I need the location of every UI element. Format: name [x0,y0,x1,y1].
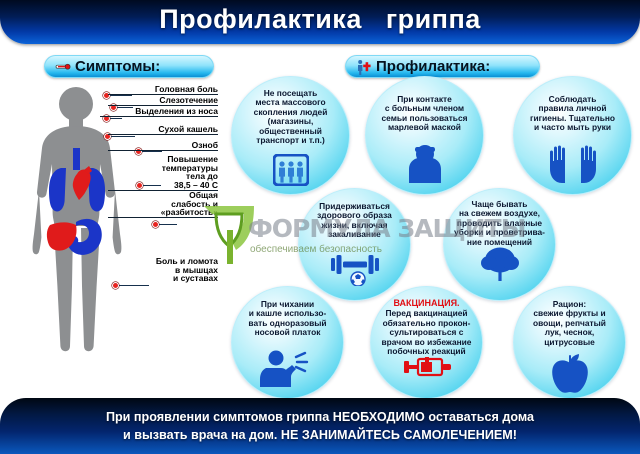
prevention-circle-crowds: Не посещать места массового скопления лю… [231,76,350,195]
section-header-prevention: Профилактика: [345,55,540,78]
two-hands-icon [514,133,631,194]
footer-message: При проявлении симптомов гриппа НЕОБХОДИ… [106,408,534,445]
section-header-symptoms: Симптомы: [44,55,214,78]
symptom-label-6: Повышение температуры тела до 38,5 – 40 … [108,155,218,191]
prevention-text-vaccination: Перед вакцинацией обязательно прокон- су… [373,309,480,356]
prevention-circle-mask: При контакте с больным членом семьи поль… [365,76,484,195]
leader-line-7 [159,224,177,225]
poster-root: Профилактика гриппа Симптомы: Профилакти… [0,0,640,454]
apple-icon [514,347,625,398]
prevention-circle-diet: Рацион: свежие фрукты и овощи, репчатый … [513,286,626,399]
prevention-text-hygiene: Соблюдать правила личной гигиены. Тщател… [516,95,628,133]
leader-line-3 [110,118,122,119]
symptom-label-2: Слезотечение [108,96,218,106]
prevention-circle-handkerchief: При чихании и кашле использо- вать однор… [231,286,344,399]
prevention-circle-fresh-air: Чаще бывать на свежем воздухе, проводить… [443,188,556,301]
symptom-label-4: Сухой кашель [108,125,218,135]
thermometer-icon [55,59,71,75]
symptom-label-5: Озноб [108,141,218,151]
section-label-prevention: Профилактика: [376,58,490,75]
prevention-text-mask: При контакте с больным членом семьи поль… [368,95,480,133]
crowd-people-sign-icon [232,146,349,194]
symptom-label-3: Выделения из носа [100,107,218,117]
page-title: Профилактика гриппа [0,4,640,35]
prevention-title-vaccination: ВАКЦИНАЦИЯ. [373,298,480,308]
leader-line-5 [142,151,162,152]
symptom-label-1: Головная боль [108,85,218,95]
symptom-label-7: Общая слабость и «разбитость» [108,191,218,218]
prevention-text-fresh-air: Чаще бывать на свежем воздухе, проводить… [446,200,553,247]
footer-bar: При проявлении симптомов гриппа НЕОБХОДИ… [0,398,640,454]
prevention-text-lifestyle: Придерживаться здорового образа жизни, в… [301,202,408,240]
dumbbell-ball-icon [299,240,410,300]
tree-icon [444,247,555,300]
prevention-circle-vaccination: ВАКЦИНАЦИЯ. Перед вакцинацией обязательн… [370,286,483,399]
person-medical-cross-icon [356,59,372,75]
leader-line-4 [111,136,135,137]
symptom-dot-7 [152,221,159,228]
prevention-text-handkerchief: При чихании и кашле использо- вать однор… [234,300,341,338]
symptom-dot-8 [112,282,119,289]
prevention-circle-hygiene: Соблюдать правила личной гигиены. Тщател… [513,76,632,195]
leader-line-8 [119,285,149,286]
section-label-symptoms: Симптомы: [75,58,160,75]
prevention-circle-lifestyle: Придерживаться здорового образа жизни, в… [298,188,411,301]
person-mask-icon [366,133,483,194]
symptom-label-8: Боль и ломота в мышцах и суставах [108,257,218,283]
sneezing-person-icon [232,338,343,398]
prevention-text-diet: Рацион: свежие фрукты и овощи, репчатый … [516,300,623,347]
syringe-icon [371,357,482,398]
prevention-text-crowds: Не посещать места массового скопления лю… [234,89,346,146]
